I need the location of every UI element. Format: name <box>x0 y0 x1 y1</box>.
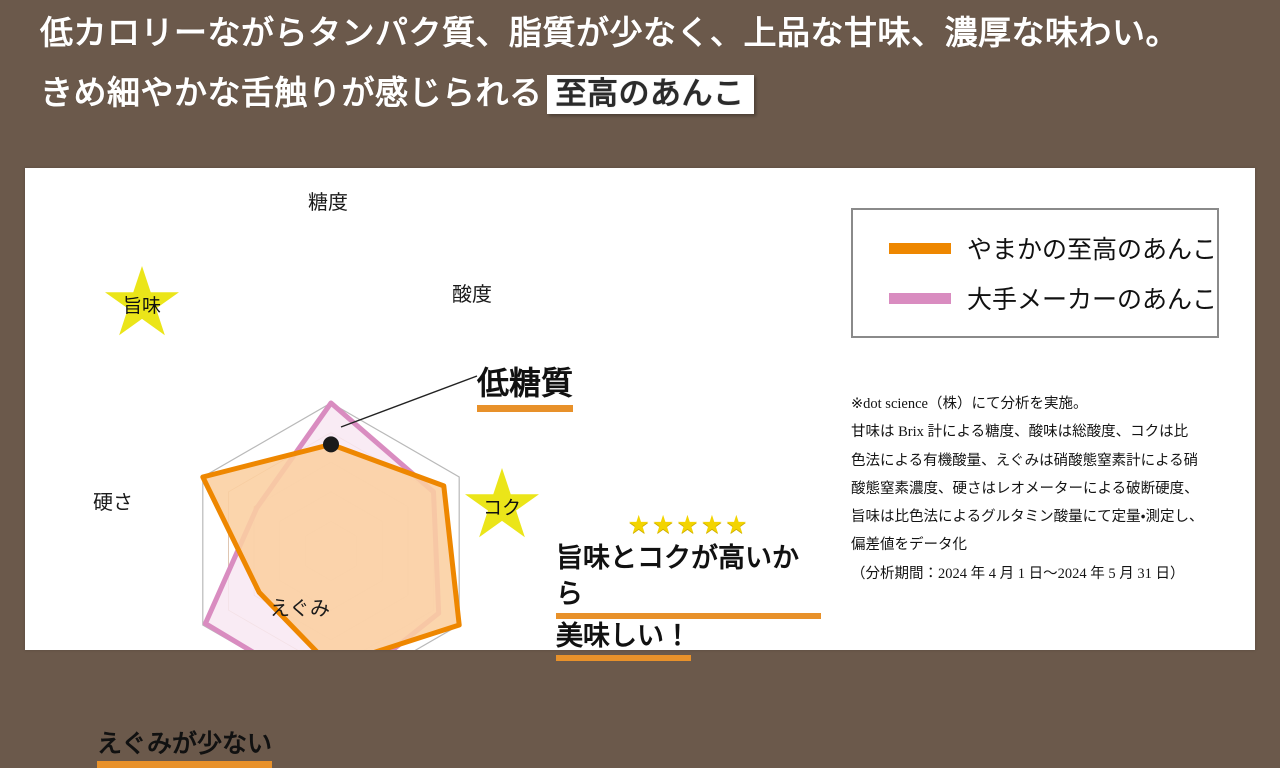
callout-low-bitterness: えぐみが少ない <box>97 724 272 768</box>
star-badge-umami: 旨味 <box>105 266 179 340</box>
praise-block: ★★★★★ 旨味とコクが高いから 美味しい！ <box>556 513 821 661</box>
callout-low-sugar: 低糖質 <box>477 358 573 412</box>
headline-banner: 低カロリーながらタンパク質、脂質が少なく、上品な甘味、濃厚な味わい。 きめ細やか… <box>0 0 1280 168</box>
footnote-line: 色法による有機酸量、えぐみは硝酸態窒素計による硝 <box>851 447 1231 475</box>
legend-swatch-pink <box>889 293 951 304</box>
footnote-line: 偏差値をデータ化 <box>851 531 1231 559</box>
footnote-line: 酸態窒素濃度、硬さはレオメーターによる破断硬度、 <box>851 475 1231 503</box>
axis-label-hardness: 硬さ <box>93 486 133 515</box>
content-card: 糖度 酸度 えぐみ 硬さ 旨味 コク 低糖質 えぐみが少ない ★★★★★ 旨味と… <box>25 168 1255 650</box>
praise-line-1-text: 旨味とコクが高いから <box>556 541 821 619</box>
star-badge-richness: コク <box>465 468 539 542</box>
footnote-line: （分析期間：2024 年 4 月 1 日〜2024 年 5 月 31 日） <box>851 560 1231 588</box>
legend-label-major-maker: 大手メーカーのあんこ <box>967 280 1217 316</box>
footnote-line: 旨味は比色法によるグルタミン酸量にて定量・測定し、 <box>851 503 1231 531</box>
legend-item-major-maker: 大手メーカーのあんこ <box>853 273 1217 323</box>
legend-swatch-orange <box>889 243 951 254</box>
callout-low-sugar-text: 低糖質 <box>477 358 573 412</box>
headline-line-2: きめ細やかな舌触りが感じられる 至高のあんこ <box>40 75 1280 114</box>
callout-low-bitterness-text: えぐみが少ない <box>97 724 272 768</box>
star-badge-umami-label: 旨味 <box>123 291 161 318</box>
footnote-line: 甘味は Brix 計による糖度、酸味は総酸度、コクは比 <box>851 418 1231 446</box>
axis-label-sweetness: 糖度 <box>308 186 348 215</box>
headline-line-2-prefix: きめ細やかな舌触りが感じられる <box>40 78 543 111</box>
star-badge-richness-label: コク <box>483 493 521 520</box>
praise-line-2-text: 美味しい！ <box>556 619 691 661</box>
radar-chart: 糖度 酸度 えぐみ 硬さ 旨味 コク 低糖質 えぐみが少ない <box>25 168 645 650</box>
legend-item-yamaka: やまかの至高のあんこ <box>853 223 1217 273</box>
legend-label-yamaka: やまかの至高のあんこ <box>967 230 1217 266</box>
praise-line-1: 旨味とコクが高いから <box>556 541 821 619</box>
footnote-block: ※dot science（株）にて分析を実施。 甘味は Brix 計による糖度、… <box>851 390 1231 588</box>
rating-stars: ★★★★★ <box>556 513 821 541</box>
chart-legend: やまかの至高のあんこ 大手メーカーのあんこ <box>851 208 1219 338</box>
headline-highlight-box: 至高のあんこ <box>547 75 754 114</box>
leader-line-low-sugar <box>341 376 477 427</box>
praise-line-2: 美味しい！ <box>556 619 821 661</box>
headline-line-1: 低カロリーながらタンパク質、脂質が少なく、上品な甘味、濃厚な味わい。 <box>40 18 1280 51</box>
footnote-line: ※dot science（株）にて分析を実施。 <box>851 390 1231 418</box>
radar-data-marker <box>323 436 339 452</box>
axis-label-harshness: えぐみ <box>270 592 330 621</box>
axis-label-acidity: 酸度 <box>452 278 492 307</box>
